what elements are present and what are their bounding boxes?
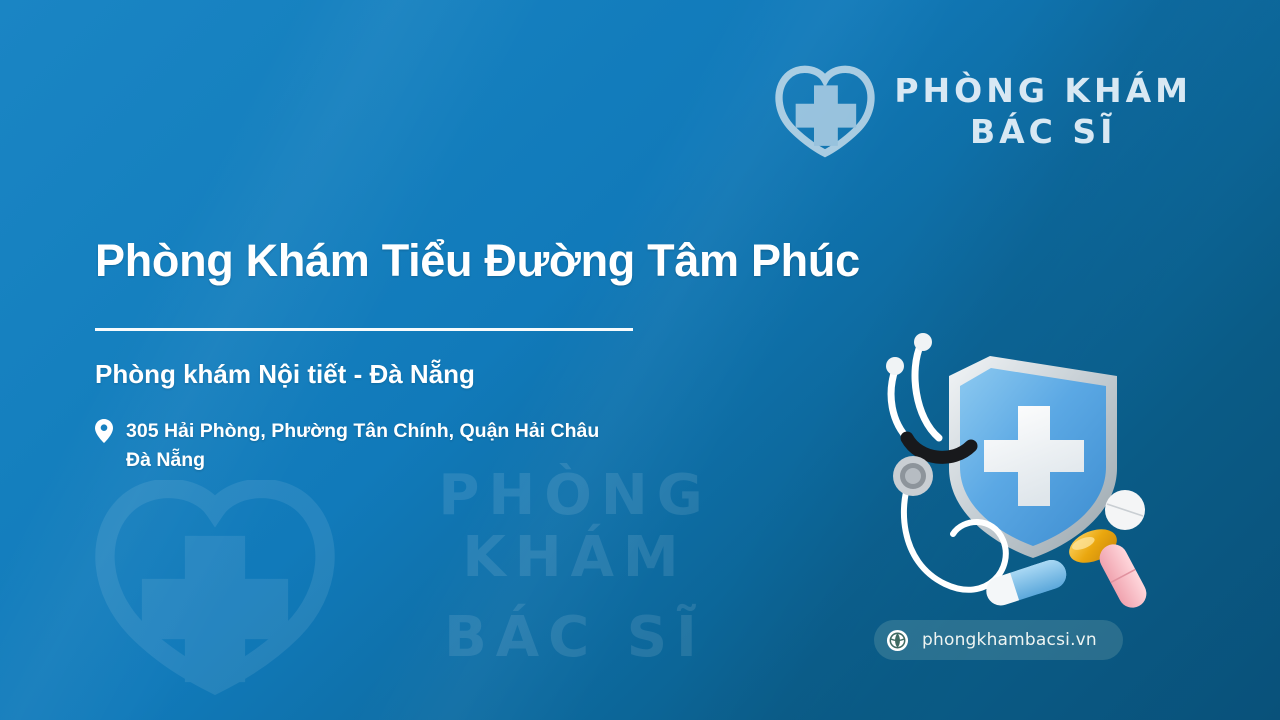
clinic-info-block: Phòng Khám Tiểu Đường Tâm Phúc Phòng khá…	[95, 236, 795, 475]
clinic-address-text: 305 Hải Phòng, Phường Tân Chính, Quận Hả…	[126, 417, 766, 475]
watermark-text: PHÒNG KHÁM BÁC SĨ	[325, 465, 825, 669]
background-watermark: PHÒNG KHÁM BÁC SĨ	[60, 455, 820, 705]
pill-blue-white-capsule	[983, 556, 1070, 609]
watermark-line-1: PHÒNG KHÁM	[325, 465, 825, 589]
brand-logo-text: PHÒNG KHÁM BÁC SĨ	[894, 73, 1192, 151]
clinic-address: 305 Hải Phòng, Phường Tân Chính, Quận Hả…	[95, 417, 795, 475]
brand-logo-line-2: BÁC SĨ	[894, 114, 1192, 151]
website-url: phongkhambacsi.vn	[922, 630, 1097, 650]
watermark-logo-mark-icon	[80, 480, 350, 695]
website-badge[interactable]: phongkhambacsi.vn	[874, 620, 1123, 660]
globe-icon	[886, 629, 909, 652]
stethoscope-earpiece-left	[886, 357, 904, 375]
clinic-banner: PHÒNG KHÁM BÁC SĨ PHÒNG KHÁM BÁC SĨ Phòn…	[0, 0, 1280, 720]
shield-with-cross	[949, 356, 1117, 558]
clinic-subtitle: Phòng khám Nội tiết - Đà Nẵng	[95, 359, 795, 390]
heart-shield-cross-logo-icon	[770, 58, 880, 166]
address-line-1: 305 Hải Phòng, Phường Tân Chính, Quận Hả…	[126, 420, 599, 442]
stethoscope-earpiece-right	[914, 333, 932, 351]
clinic-title: Phòng Khám Tiểu Đường Tâm Phúc	[95, 236, 795, 286]
title-divider	[95, 328, 633, 331]
pill-round-tablet	[1105, 490, 1145, 530]
pill-pink-capsule	[1095, 539, 1152, 612]
medical-shield-stethoscope-pills-illustration	[835, 318, 1165, 618]
map-pin-icon	[95, 419, 113, 443]
brand-logo: PHÒNG KHÁM BÁC SĨ	[770, 58, 1192, 166]
address-line-2: Đà Nẵng	[126, 449, 205, 471]
watermark-line-2: BÁC SĨ	[325, 607, 825, 669]
brand-logo-line-1: PHÒNG KHÁM	[894, 73, 1192, 110]
